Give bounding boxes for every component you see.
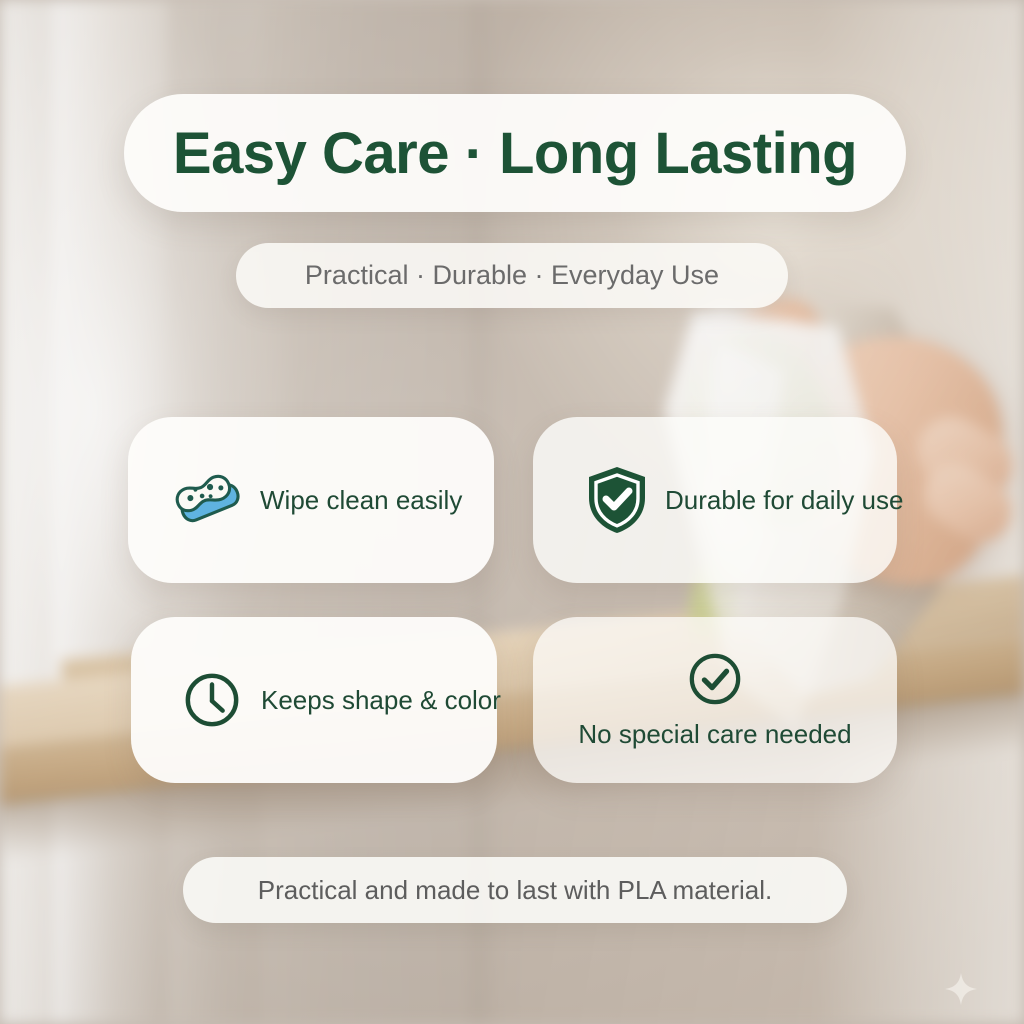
feature-card-durable[interactable]: Durable for daily use <box>533 417 897 583</box>
feature-label: Wipe clean easily <box>260 485 462 516</box>
feature-label: Keeps shape & color <box>261 685 501 716</box>
title-pill: Easy Care · Long Lasting <box>124 94 906 212</box>
sparkle-icon <box>944 972 978 1006</box>
check-circle-icon <box>687 651 743 707</box>
shield-check-icon <box>585 464 649 536</box>
feature-label: Durable for daily use <box>665 485 903 516</box>
clock-icon <box>183 671 241 729</box>
page-title: Easy Care · Long Lasting <box>173 120 857 187</box>
feature-label: No special care needed <box>578 719 851 750</box>
feature-card-wipe-clean[interactable]: Wipe clean easily <box>128 417 494 583</box>
footer-text: Practical and made to last with PLA mate… <box>258 875 772 906</box>
page-subtitle: Practical · Durable · Everyday Use <box>305 260 719 291</box>
footer-pill: Practical and made to last with PLA mate… <box>183 857 847 923</box>
sponge-icon <box>174 465 244 535</box>
feature-card-keeps-shape[interactable]: Keeps shape & color <box>131 617 497 783</box>
subtitle-pill: Practical · Durable · Everyday Use <box>236 243 788 308</box>
feature-card-no-special-care[interactable]: No special care needed <box>533 617 897 783</box>
